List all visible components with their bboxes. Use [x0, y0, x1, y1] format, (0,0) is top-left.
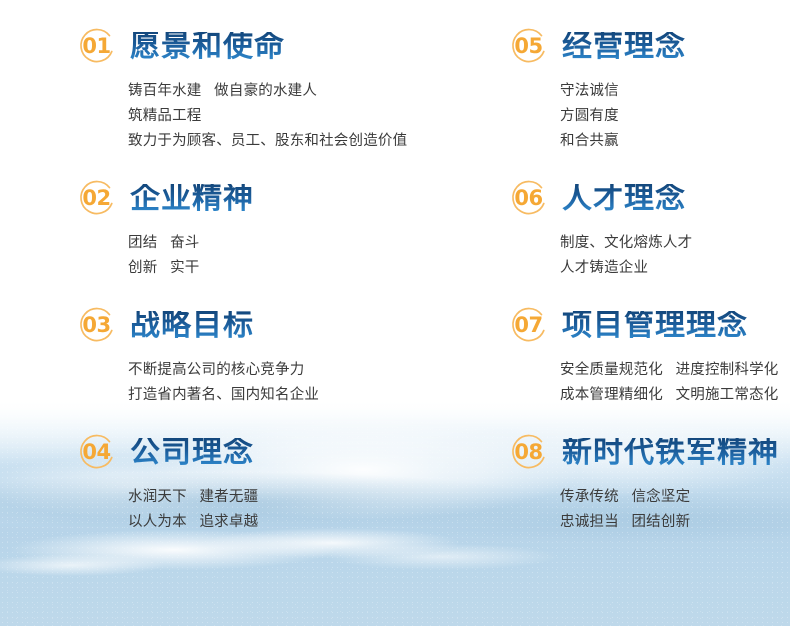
badge-number: 06 [508, 179, 549, 220]
block-lines: 安全质量规范化 进度控制科学化成本管理精细化 文明施工常态化 [508, 358, 790, 408]
culture-block-02: 02 企业精神 团结 奋斗创新 实干 [0, 176, 432, 281]
block-line: 水润天下 建者无疆 [128, 485, 432, 510]
block-line: 和合共赢 [560, 129, 790, 154]
block-line: 安全质量规范化 进度控制科学化 [560, 358, 790, 383]
block-title-03: 战略目标 [130, 311, 254, 341]
badge-number: 03 [76, 306, 117, 347]
block-title-06: 人才理念 [562, 184, 686, 214]
number-badge: 02 [76, 179, 117, 220]
block-header: 08 新时代铁军精神 [508, 430, 790, 476]
culture-block-04: 04 公司理念 水润天下 建者无疆以人为本 追求卓越 [0, 430, 432, 535]
block-line: 以人为本 追求卓越 [128, 510, 432, 535]
block-line: 成本管理精细化 文明施工常态化 [560, 383, 790, 408]
number-badge: 08 [508, 433, 549, 474]
badge-number: 02 [76, 179, 117, 220]
number-badge: 04 [76, 433, 117, 474]
left-column: 01 愿景和使命 铸百年水建 做自豪的水建人筑精品工程致力于为顾客、员工、股东和… [0, 24, 432, 557]
block-lines: 传承传统 信念坚定忠诚担当 团结创新 [508, 485, 790, 535]
block-title-07: 项目管理理念 [562, 311, 748, 341]
block-title-01: 愿景和使命 [130, 32, 285, 62]
block-lines: 团结 奋斗创新 实干 [76, 231, 432, 281]
block-line: 方圆有度 [560, 104, 790, 129]
culture-block-06: 06 人才理念 制度、文化熔炼人才人才铸造企业 [432, 176, 790, 281]
culture-block-05: 05 经营理念 守法诚信方圆有度和合共赢 [432, 24, 790, 154]
block-title-08: 新时代铁军精神 [562, 438, 779, 468]
right-column: 05 经营理念 守法诚信方圆有度和合共赢 06 人才理念 制度、文化熔炼人才人才… [432, 24, 790, 557]
block-lines: 铸百年水建 做自豪的水建人筑精品工程致力于为顾客、员工、股东和社会创造价值 [76, 79, 432, 154]
number-badge: 06 [508, 179, 549, 220]
content-grid: 01 愿景和使命 铸百年水建 做自豪的水建人筑精品工程致力于为顾客、员工、股东和… [0, 0, 790, 557]
block-header: 01 愿景和使命 [76, 24, 432, 70]
number-badge: 03 [76, 306, 117, 347]
badge-number: 01 [76, 27, 117, 68]
block-header: 04 公司理念 [76, 430, 432, 476]
culture-block-08: 08 新时代铁军精神 传承传统 信念坚定忠诚担当 团结创新 [432, 430, 790, 535]
block-line: 忠诚担当 团结创新 [560, 510, 790, 535]
block-header: 03 战略目标 [76, 303, 432, 349]
block-line: 致力于为顾客、员工、股东和社会创造价值 [128, 129, 432, 154]
block-line: 制度、文化熔炼人才 [560, 231, 790, 256]
culture-block-01: 01 愿景和使命 铸百年水建 做自豪的水建人筑精品工程致力于为顾客、员工、股东和… [0, 24, 432, 154]
block-line: 打造省内著名、国内知名企业 [128, 383, 432, 408]
badge-number: 07 [508, 306, 549, 347]
block-line: 铸百年水建 做自豪的水建人 [128, 79, 432, 104]
block-lines: 制度、文化熔炼人才人才铸造企业 [508, 231, 790, 281]
block-header: 06 人才理念 [508, 176, 790, 222]
block-line: 团结 奋斗 [128, 231, 432, 256]
culture-block-03: 03 战略目标 不断提高公司的核心竞争力打造省内著名、国内知名企业 [0, 303, 432, 408]
block-header: 05 经营理念 [508, 24, 790, 70]
badge-number: 08 [508, 433, 549, 474]
number-badge: 01 [76, 27, 117, 68]
badge-number: 04 [76, 433, 117, 474]
block-line: 不断提高公司的核心竞争力 [128, 358, 432, 383]
block-line: 人才铸造企业 [560, 256, 790, 281]
block-title-02: 企业精神 [130, 184, 254, 214]
block-lines: 不断提高公司的核心竞争力打造省内著名、国内知名企业 [76, 358, 432, 408]
block-header: 07 项目管理理念 [508, 303, 790, 349]
block-line: 创新 实干 [128, 256, 432, 281]
block-line: 传承传统 信念坚定 [560, 485, 790, 510]
block-line: 筑精品工程 [128, 104, 432, 129]
number-badge: 05 [508, 27, 549, 68]
culture-block-07: 07 项目管理理念 安全质量规范化 进度控制科学化成本管理精细化 文明施工常态化 [432, 303, 790, 408]
culture-poster: 01 愿景和使命 铸百年水建 做自豪的水建人筑精品工程致力于为顾客、员工、股东和… [0, 0, 790, 626]
block-lines: 守法诚信方圆有度和合共赢 [508, 79, 790, 154]
number-badge: 07 [508, 306, 549, 347]
block-line: 守法诚信 [560, 79, 790, 104]
block-title-04: 公司理念 [130, 438, 254, 468]
block-header: 02 企业精神 [76, 176, 432, 222]
block-lines: 水润天下 建者无疆以人为本 追求卓越 [76, 485, 432, 535]
badge-number: 05 [508, 27, 549, 68]
block-title-05: 经营理念 [562, 32, 686, 62]
